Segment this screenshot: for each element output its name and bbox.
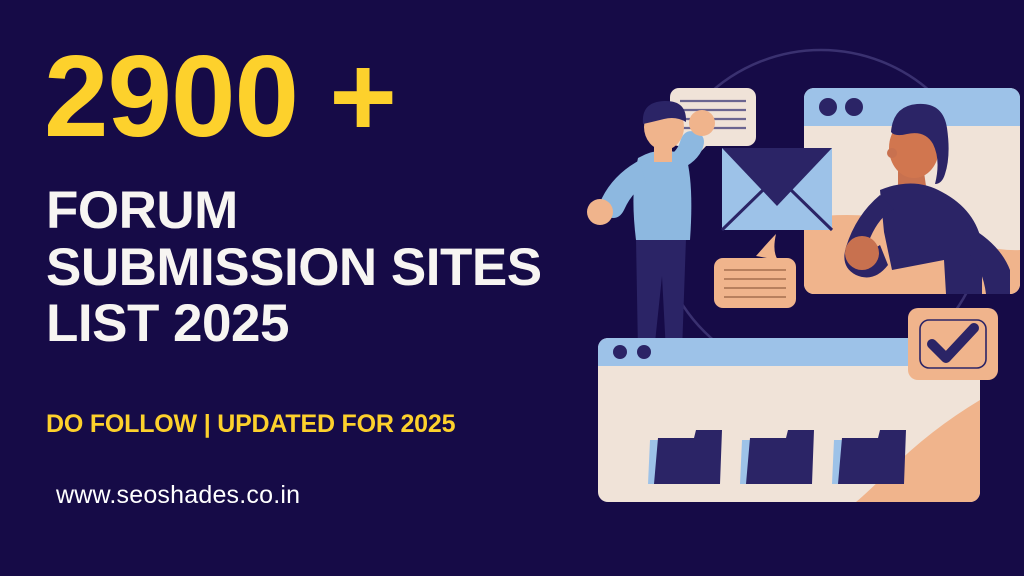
peach-bubble-body	[714, 258, 796, 308]
window-dot-one	[819, 98, 837, 116]
woman-ear	[887, 148, 897, 158]
folder-item-3	[838, 430, 906, 484]
folder-item-1	[654, 430, 722, 484]
text-column: 2900 + FORUM SUBMISSION SITES LIST 2025 …	[44, 0, 604, 576]
woman-hand	[845, 236, 879, 270]
window-dot-two	[845, 98, 863, 116]
peach-chat-bubble	[714, 234, 796, 308]
browser-window-video-person	[804, 88, 1020, 294]
folders-window-dot-two	[637, 345, 651, 359]
folders-window-dot-one	[613, 345, 627, 359]
promo-banner: 2900 + FORUM SUBMISSION SITES LIST 2025 …	[0, 0, 1024, 576]
email-envelope-icon	[722, 148, 832, 230]
page-title: FORUM SUBMISSION SITES LIST 2025	[46, 183, 606, 353]
peach-bubble-tail	[756, 234, 778, 260]
headline-line-2: SUBMISSION SITES	[46, 240, 606, 297]
person-lowered-hand	[587, 199, 613, 225]
headline-line-3: LIST 2025	[46, 296, 606, 353]
person-torso	[633, 150, 691, 240]
standing-person-waving	[587, 101, 715, 352]
person-raised-hand	[689, 110, 715, 136]
website-url: www.seoshades.co.in	[56, 483, 300, 508]
subheadline: DO FOLLOW | UPDATED FOR 2025	[46, 412, 455, 437]
person-legs	[636, 238, 686, 352]
headline-line-1: FORUM	[46, 183, 606, 240]
stat-count: 2900 +	[44, 38, 396, 154]
folder-item-2	[746, 430, 814, 484]
checkmark-badge	[908, 308, 998, 380]
hero-illustration	[580, 0, 1024, 576]
